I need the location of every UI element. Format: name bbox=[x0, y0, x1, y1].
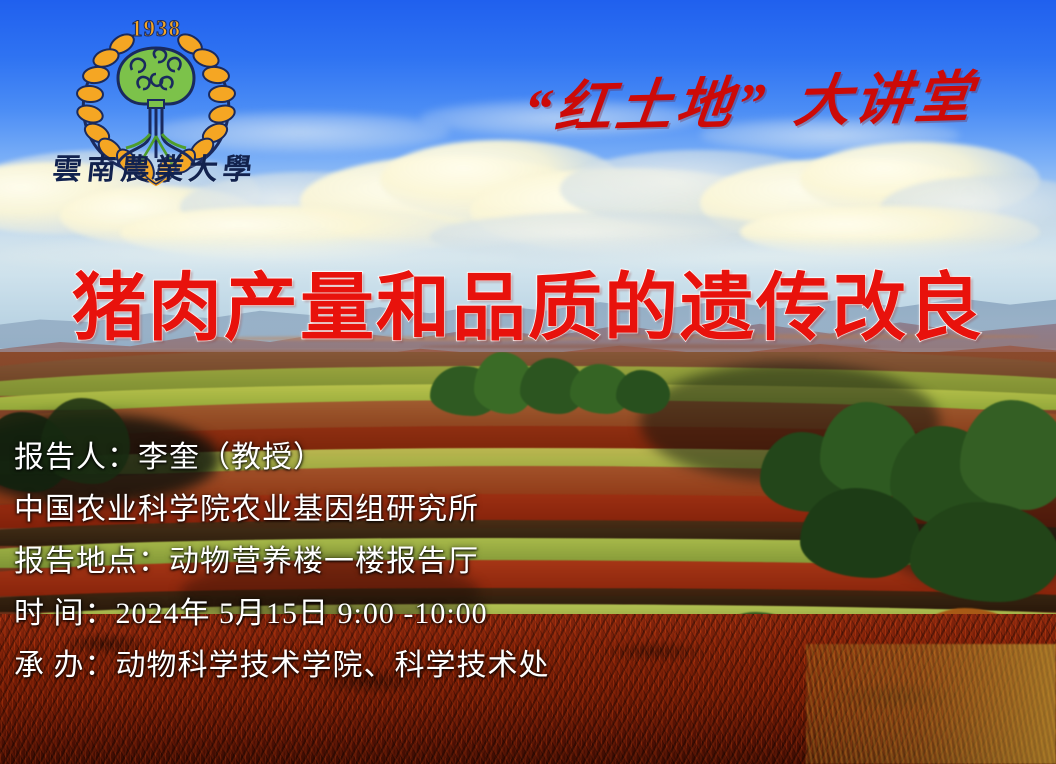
forum-title-rest: 大讲堂 bbox=[791, 67, 979, 134]
tree-cluster-right bbox=[760, 392, 1056, 592]
tree-cluster-center bbox=[430, 352, 670, 418]
lecture-details: 报告人：李奎（教授） 中国农业科学院农业基因组研究所 报告地点：动物营养楼一楼报… bbox=[14, 432, 714, 692]
detail-speaker: 报告人：李奎（教授） bbox=[14, 432, 714, 484]
forum-title-quoted: “红土地” bbox=[520, 73, 772, 141]
detail-venue: 报告地点：动物营养楼一楼报告厅 bbox=[14, 536, 714, 588]
university-name: 雲南農業大學 bbox=[48, 146, 262, 188]
forum-title: “红土地”大讲堂 bbox=[520, 52, 981, 145]
detail-organizer: 承 办：动物科学技术学院、科学技术处 bbox=[14, 640, 714, 692]
detail-affiliation: 中国农业科学院农业基因组研究所 bbox=[14, 484, 714, 536]
detail-time: 时 间：2024年 5月15日 9:00 -10:00 bbox=[14, 588, 714, 640]
lecture-poster: 1938 雲南農業大學 “红土地”大讲堂 猪肉产量和品质的遗传改良 报告人：李奎… bbox=[0, 0, 1056, 764]
emblem-year: 1938 bbox=[131, 16, 181, 41]
page-title: 猪肉产量和品质的遗传改良 bbox=[0, 248, 1056, 355]
